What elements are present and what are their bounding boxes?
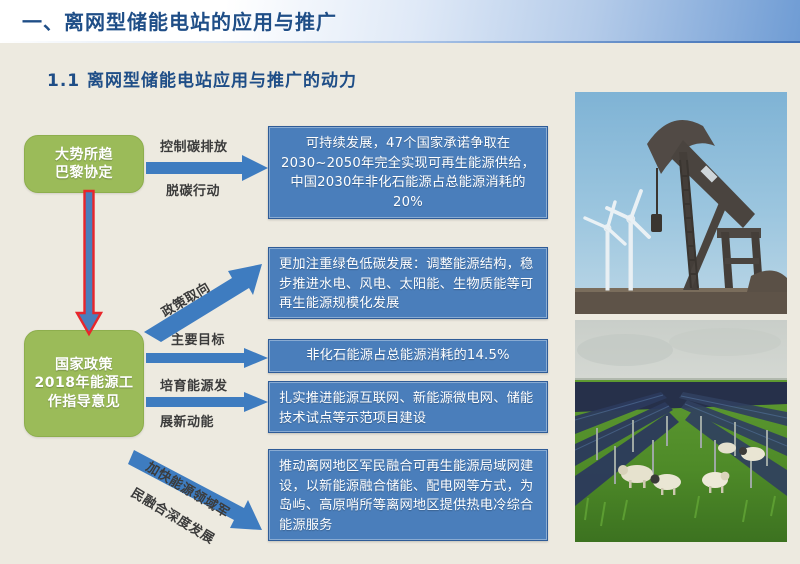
arrow-carbon-control: [146, 155, 270, 181]
arrow-label-new-energy-momentum-bottom: 展新动能: [160, 411, 214, 430]
green-box-1-line-1: 大势所趋: [55, 146, 113, 164]
arrow-label-main-target: 主要目标: [171, 329, 225, 348]
green-box-national-policy[interactable]: 国家政策 2018年能源工 作指导意见: [24, 330, 144, 437]
arrow-label-carbon-control-bottom: 脱碳行动: [166, 180, 220, 199]
info-box-non-fossil-share[interactable]: 非化石能源占总能源消耗的14.5%: [268, 339, 548, 373]
photo-top-graphic: [575, 92, 787, 314]
green-box-1-line-2: 巴黎协定: [55, 164, 113, 182]
info-box-energy-internet-pilot[interactable]: 扎实推进能源互联网、新能源微电网、储能技术试点等示范项目建设: [268, 381, 548, 433]
green-box-2-line-3: 作指导意见: [35, 393, 134, 411]
photo-bottom-graphic: [575, 320, 787, 542]
arrow-new-energy-momentum: [146, 392, 270, 412]
page-title: 一、离网型储能电站的应用与推广: [22, 6, 337, 35]
vertical-connector-arrow: [70, 191, 114, 337]
green-box-paris-agreement[interactable]: 大势所趋 巴黎协定: [24, 135, 144, 193]
arrow-label-new-energy-momentum-top: 培育能源发: [160, 375, 228, 394]
arrow-main-target: [146, 348, 270, 368]
slide-canvas: 一、离网型储能电站的应用与推广 1.1 离网型储能电站应用与推广的动力 大势所趋…: [0, 0, 800, 564]
section-subtitle: 1.1 离网型储能电站应用与推广的动力: [47, 66, 357, 91]
info-box-offgrid-military-civil[interactable]: 推动离网地区军民融合可再生能源局域网建设，以新能源融合储能、配电网等方式，为岛屿…: [268, 449, 548, 541]
arrow-label-carbon-control-top: 控制碳排放: [160, 136, 228, 155]
photo-solar-farm-with-sheep: [575, 320, 787, 542]
green-box-2-line-2: 2018年能源工: [35, 374, 134, 392]
info-box-sustainable-development[interactable]: 可持续发展，47个国家承诺争取在2030~2050年完全实现可再生能源供给，中国…: [268, 126, 548, 219]
info-box-green-low-carbon[interactable]: 更加注重绿色低碳发展：调整能源结构，稳步推进水电、风电、太阳能、生物质能等可再生…: [268, 247, 548, 319]
green-box-2-line-1: 国家政策: [35, 356, 134, 374]
arrow-policy-orientation: [140, 260, 270, 340]
photo-oil-pumpjack-wind-turbines: [575, 92, 787, 314]
